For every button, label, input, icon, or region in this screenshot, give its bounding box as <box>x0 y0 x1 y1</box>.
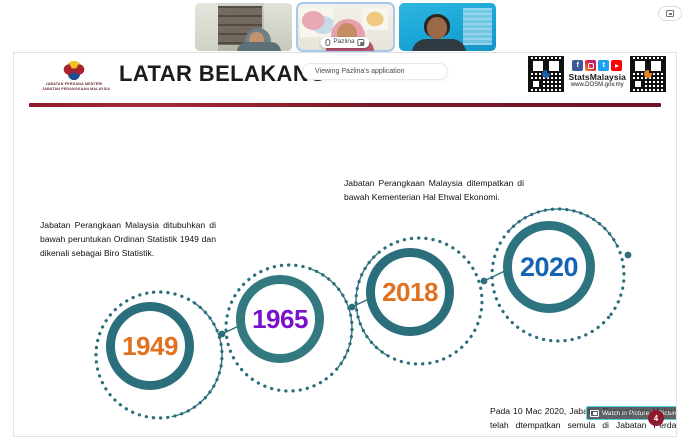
social-icons: f t <box>568 60 626 71</box>
participant-name: Pazlina <box>333 38 354 47</box>
slide-body: .arcline { fill:none; stroke:#2b6e7c; st… <box>14 109 676 436</box>
picture-in-picture-icon <box>590 410 599 417</box>
timeline-node-1965: 1965 <box>236 275 324 363</box>
participant-video-strip: Pazlina <box>0 0 690 52</box>
tile3-window-blinds <box>463 8 492 45</box>
tile2-poster-left <box>300 7 333 37</box>
tile3-face <box>427 17 447 39</box>
participant-name-chip[interactable]: Pazlina <box>320 37 369 48</box>
slide-header: JABATAN PERDANA MENTERI JABATAN PERANGKA… <box>14 53 676 103</box>
slide-page-number: 4 <box>648 410 664 426</box>
timeline-node-1949: 1949 <box>106 302 194 390</box>
tile1-wall-left <box>195 3 218 51</box>
tile2-poster-right <box>362 8 387 30</box>
timeline-year-2018: 2018 <box>382 277 438 308</box>
brand-name: StatsMalaysia <box>568 72 626 82</box>
microphone-icon <box>325 39 330 46</box>
government-logo: JABATAN PERDANA MENTERI JABATAN PERANGKA… <box>42 56 106 93</box>
timeline-node-2018: 2018 <box>366 248 454 336</box>
instagram-icon[interactable] <box>585 60 596 71</box>
page-title: LATAR BELAKANG <box>119 61 327 87</box>
participant-tile-2[interactable]: Pazlina <box>297 3 394 51</box>
qr-right-center-logo <box>644 70 652 78</box>
youtube-icon[interactable] <box>611 60 622 71</box>
participant-tile-3[interactable] <box>399 3 496 51</box>
brand-block: f t StatsMalaysia www.DOSM.gov.my <box>528 56 666 92</box>
window-resize-button[interactable] <box>658 6 682 21</box>
logo-line-2: JABATAN PERANGKAAN MALAYSIA <box>42 87 106 92</box>
qr-right-finder <box>633 79 643 89</box>
header-divider-bar <box>29 103 661 107</box>
participant-tile-1[interactable] <box>195 3 292 51</box>
tile1-body <box>237 42 281 51</box>
qr-left-finder <box>531 79 541 89</box>
timeline-year-1949: 1949 <box>122 331 178 362</box>
pin-to-screen-icon[interactable] <box>358 39 365 46</box>
facebook-icon[interactable]: f <box>572 60 583 71</box>
tile3-body <box>412 39 466 51</box>
picture-in-picture-label: Watch in Picture-in-Picture <box>602 410 677 417</box>
timeline-year-1965: 1965 <box>252 304 308 335</box>
timeline-node-2020: 2020 <box>503 221 595 313</box>
timeline-year-2020: 2020 <box>520 252 578 283</box>
viewing-application-label: Viewing Pazlina's application <box>315 68 405 75</box>
timeline-text-2018: Jabatan Perangkaan Malaysia ditempatkan … <box>344 177 524 205</box>
qr-code-left <box>528 56 564 92</box>
brand-url: www.DOSM.gov.my <box>568 82 626 88</box>
presentation-slide[interactable]: JABATAN PERDANA MENTERI JABATAN PERANGKA… <box>13 52 677 437</box>
twitter-icon[interactable]: t <box>598 60 609 71</box>
qr-code-right <box>630 56 666 92</box>
viewing-application-chip[interactable]: Viewing Pazlina's application <box>302 63 448 80</box>
screen: Pazlina JABATAN PERDANA MENTERI JABATAN … <box>0 0 690 443</box>
qr-left-center-logo <box>542 70 550 78</box>
jata-negara-crest-icon <box>61 56 87 82</box>
resize-window-icon <box>666 10 674 17</box>
brand-text-block: f t StatsMalaysia www.DOSM.gov.my <box>568 60 626 88</box>
timeline-text-1949: Jabatan Perangkaan Malaysia ditubuhkan d… <box>40 219 216 261</box>
